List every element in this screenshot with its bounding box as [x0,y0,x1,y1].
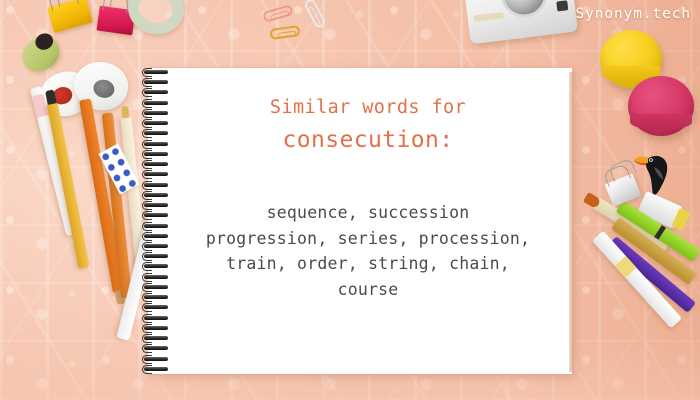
spiral-ring [142,142,170,147]
spiral-ring [142,275,170,280]
camera-grip [473,12,504,22]
spiral-ring [142,234,170,239]
camera-lens [498,0,549,20]
note-content: Similar words for consecution: sequence,… [182,95,554,302]
spiral-ring [142,367,170,372]
spiral-ring [142,295,170,300]
spiral-ring [142,121,170,126]
spiral-ring [142,316,170,321]
spiral-ring [142,305,170,310]
similar-words-label: Similar words for [182,95,554,121]
spiral-ring [142,264,170,269]
synonym-list: sequence, succession progression, series… [182,200,554,302]
spiral-binding [142,70,172,372]
notebook-page-edge [569,72,572,372]
spiral-ring [142,131,170,136]
site-watermark: Synonym.tech [575,6,691,22]
spiral-ring [142,111,170,116]
spiral-ring [142,346,170,351]
spiral-ring [142,357,170,362]
spiral-ring [142,80,170,85]
spiral-ring [142,193,170,198]
synonym-line: course [182,277,554,303]
spiral-ring [142,183,170,188]
camera-flash [556,0,568,11]
spiral-ring [142,336,170,341]
spiral-ring [142,254,170,259]
synonym-line: train, order, string, chain, [182,251,554,277]
spiral-ring [142,90,170,95]
synonym-line: sequence, succession [182,200,554,226]
macaron-pink [628,76,694,136]
spiral-ring [142,213,170,218]
spiral-ring [142,203,170,208]
spiral-ring [142,224,170,229]
synonym-line: progression, series, procession, [182,226,554,252]
spiral-ring [142,152,170,157]
spiral-ring [142,326,170,331]
spiral-ring [142,162,170,167]
screenshot-root: Similar words for consecution: sequence,… [0,0,700,400]
spiral-ring [142,244,170,249]
headword: consecution: [182,124,554,156]
spiral-ring [142,101,170,106]
spiral-ring [142,285,170,290]
spiral-ring [142,172,170,177]
spiral-ring [142,70,170,75]
